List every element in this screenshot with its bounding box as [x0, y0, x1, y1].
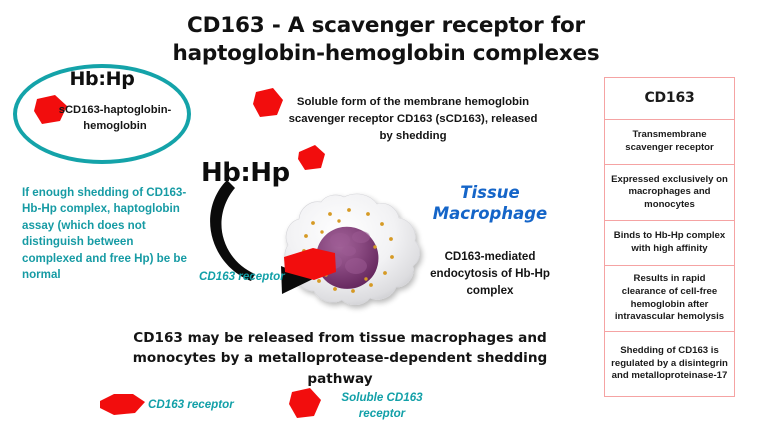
sidebar-heading-text: CD163 — [644, 89, 694, 107]
sidebar-fact-text-4: Results in rapid clearance of cell-free … — [611, 273, 728, 324]
cd163-receptor-membrane-icon — [284, 248, 336, 280]
granules-icon — [302, 208, 394, 293]
haptoglobin-assay-note: If enough shedding of CD163-Hb-Hp comple… — [22, 185, 194, 284]
cd163-receptor-hexagon-icon — [100, 394, 145, 415]
cd163-facts-sidebar: CD163 Transmembrane scavenger receptor E… — [604, 77, 735, 397]
soluble-cd163-receptor-icon-small — [298, 145, 325, 170]
sidebar-fact-box-3: Binds to Hb-Hp complex with high affinit… — [604, 220, 735, 265]
tissue-macrophage-label: Tissue Macrophage — [420, 182, 560, 225]
sidebar-heading-box: CD163 — [604, 77, 735, 119]
endocytosis-note: CD163-mediated endocytosis of Hb-Hp comp… — [418, 248, 562, 299]
oval-body-text: sCD163-haptoglobin-hemoglobin — [55, 102, 175, 134]
shedding-pathway-note: CD163 may be released from tissue macrop… — [120, 328, 560, 389]
soluble-cd163-receptor-pentagon-icon — [289, 388, 321, 418]
hb-hp-complex-label: Hb:Hp — [201, 158, 290, 188]
sidebar-fact-box-4: Results in rapid clearance of cell-free … — [604, 265, 735, 331]
sidebar-fact-box-1: Transmembrane scavenger receptor — [604, 119, 735, 164]
sidebar-fact-text-5: Shedding of CD163 is regulated by a disi… — [611, 345, 728, 383]
soluble-form-note: Soluble form of the membrane hemoglobin … — [283, 94, 543, 145]
sidebar-fact-box-2: Expressed exclusively on macrophages and… — [604, 164, 735, 220]
sidebar-fact-text-1: Transmembrane scavenger receptor — [611, 129, 728, 154]
macrophage-cell-icon — [285, 194, 420, 305]
page-title: CD163 - A scavenger receptor for haptogl… — [108, 12, 664, 67]
cd163-receptor-callout-label: CD163 receptor — [199, 270, 285, 283]
soluble-cd163-receptor-icon-note — [253, 88, 283, 117]
sidebar-fact-text-3: Binds to Hb-Hp complex with high affinit… — [611, 230, 728, 255]
legend-item-cd163-receptor-label: CD163 receptor — [148, 397, 244, 413]
legend-item-soluble-cd163-receptor-label: Soluble CD163 receptor — [330, 390, 434, 423]
oval-heading: Hb:Hp — [13, 68, 191, 90]
diagram-canvas: CD163 - A scavenger receptor for haptogl… — [0, 0, 776, 437]
sidebar-fact-text-2: Expressed exclusively on macrophages and… — [611, 174, 728, 212]
sidebar-fact-box-5: Shedding of CD163 is regulated by a disi… — [604, 331, 735, 397]
